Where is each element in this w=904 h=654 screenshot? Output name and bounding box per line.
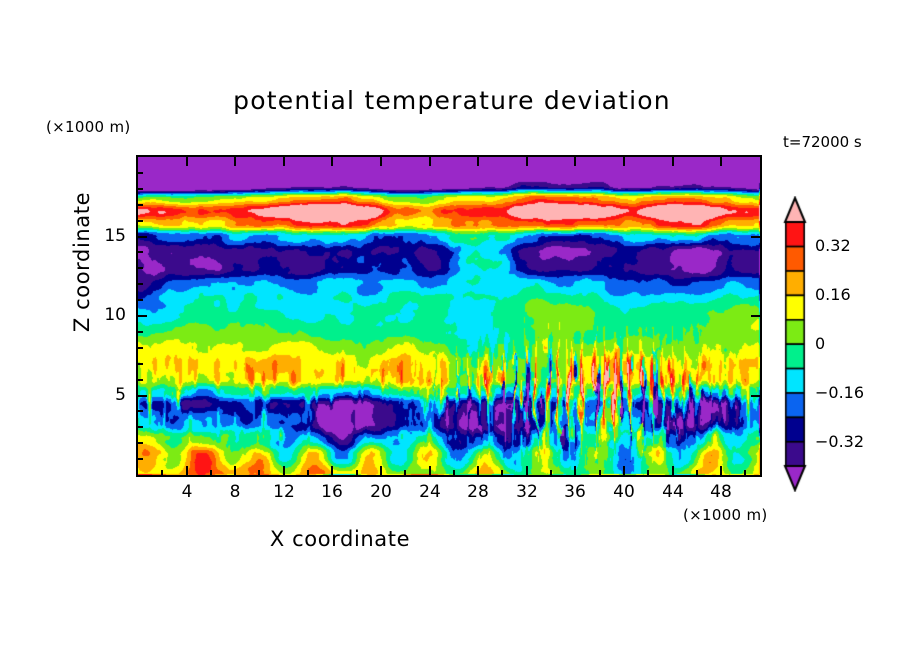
colorbar-tick-label: −0.32	[815, 432, 864, 451]
axis-tick	[672, 466, 674, 475]
axis-tick	[331, 157, 333, 166]
colorbar-tick-label: −0.16	[815, 383, 864, 402]
axis-tick	[331, 466, 333, 475]
x-tick-label: 16	[310, 482, 354, 502]
y-tick-label: 5	[86, 385, 126, 405]
x-axis-units: (×1000 m)	[683, 506, 768, 524]
axis-tick	[720, 466, 722, 475]
timestamp-annotation: t=72000 s	[783, 133, 862, 151]
plot-frame	[136, 155, 762, 477]
colorbar-tick-label: 0.32	[815, 236, 851, 255]
axis-tick	[477, 157, 479, 166]
axis-tick	[574, 157, 576, 166]
colorbar-tick-label: 0.16	[815, 285, 851, 304]
x-tick-label: 24	[408, 482, 452, 502]
axis-tick-minor	[599, 470, 601, 475]
axis-tick	[477, 466, 479, 475]
axis-tick	[429, 157, 431, 166]
axis-tick	[283, 466, 285, 475]
x-tick-label: 40	[602, 482, 646, 502]
y-tick-label: 15	[86, 226, 126, 246]
axis-tick	[751, 395, 760, 397]
axis-tick	[380, 466, 382, 475]
axis-tick-minor	[138, 347, 143, 349]
colorbar	[778, 196, 812, 492]
axis-tick	[138, 315, 147, 317]
axis-tick	[574, 466, 576, 475]
y-axis-units: (×1000 m)	[46, 118, 131, 136]
axis-tick-minor	[404, 470, 406, 475]
axis-tick-minor	[258, 470, 260, 475]
axis-tick-minor	[453, 470, 455, 475]
axis-tick	[429, 466, 431, 475]
axis-tick-minor	[138, 299, 143, 301]
colorbar-gradient	[778, 196, 812, 492]
page-title: potential temperature deviation	[0, 86, 904, 115]
axis-tick-minor	[307, 470, 309, 475]
x-tick-label: 44	[651, 482, 695, 502]
axis-tick-minor	[138, 204, 143, 206]
axis-tick	[186, 157, 188, 166]
axis-tick-minor	[138, 283, 143, 285]
axis-tick-minor	[647, 470, 649, 475]
x-tick-label: 32	[505, 482, 549, 502]
axis-tick	[138, 236, 147, 238]
axis-tick-minor	[138, 172, 143, 174]
axis-tick-minor	[138, 363, 143, 365]
axis-tick-minor	[501, 470, 503, 475]
y-tick-label: 10	[86, 305, 126, 325]
axis-tick	[751, 236, 760, 238]
axis-tick	[751, 315, 760, 317]
axis-tick-minor	[550, 470, 552, 475]
axis-tick-minor	[744, 470, 746, 475]
y-axis-label: Z coordinate	[70, 172, 94, 352]
figure-canvas: potential temperature deviation t=72000 …	[0, 0, 904, 654]
axis-tick-minor	[138, 251, 143, 253]
axis-tick	[283, 157, 285, 166]
x-axis-label: X coordinate	[0, 527, 680, 551]
axis-tick-minor	[138, 379, 143, 381]
axis-tick-minor	[138, 426, 143, 428]
axis-tick-minor	[210, 470, 212, 475]
axis-tick	[138, 395, 147, 397]
axis-tick-minor	[138, 220, 143, 222]
axis-tick	[234, 157, 236, 166]
x-tick-label: 12	[262, 482, 306, 502]
axis-tick	[380, 157, 382, 166]
axis-tick-minor	[356, 470, 358, 475]
axis-tick	[526, 466, 528, 475]
axis-tick	[234, 466, 236, 475]
x-tick-label: 4	[165, 482, 209, 502]
x-tick-label: 20	[359, 482, 403, 502]
axis-tick-minor	[161, 470, 163, 475]
x-tick-label: 48	[699, 482, 743, 502]
colorbar-tick-label: 0	[815, 334, 825, 353]
axis-tick-minor	[138, 188, 143, 190]
axis-tick-minor	[696, 470, 698, 475]
x-tick-label: 8	[213, 482, 257, 502]
axis-tick	[672, 157, 674, 166]
axis-tick	[526, 157, 528, 166]
axis-tick	[623, 157, 625, 166]
axis-tick-minor	[138, 410, 143, 412]
axis-tick-minor	[138, 331, 143, 333]
x-tick-label: 28	[456, 482, 500, 502]
axis-tick	[623, 466, 625, 475]
axis-tick	[186, 466, 188, 475]
axis-tick-minor	[138, 267, 143, 269]
axis-tick-minor	[138, 442, 143, 444]
axis-tick-minor	[138, 458, 143, 460]
x-tick-label: 36	[553, 482, 597, 502]
axis-tick	[720, 157, 722, 166]
